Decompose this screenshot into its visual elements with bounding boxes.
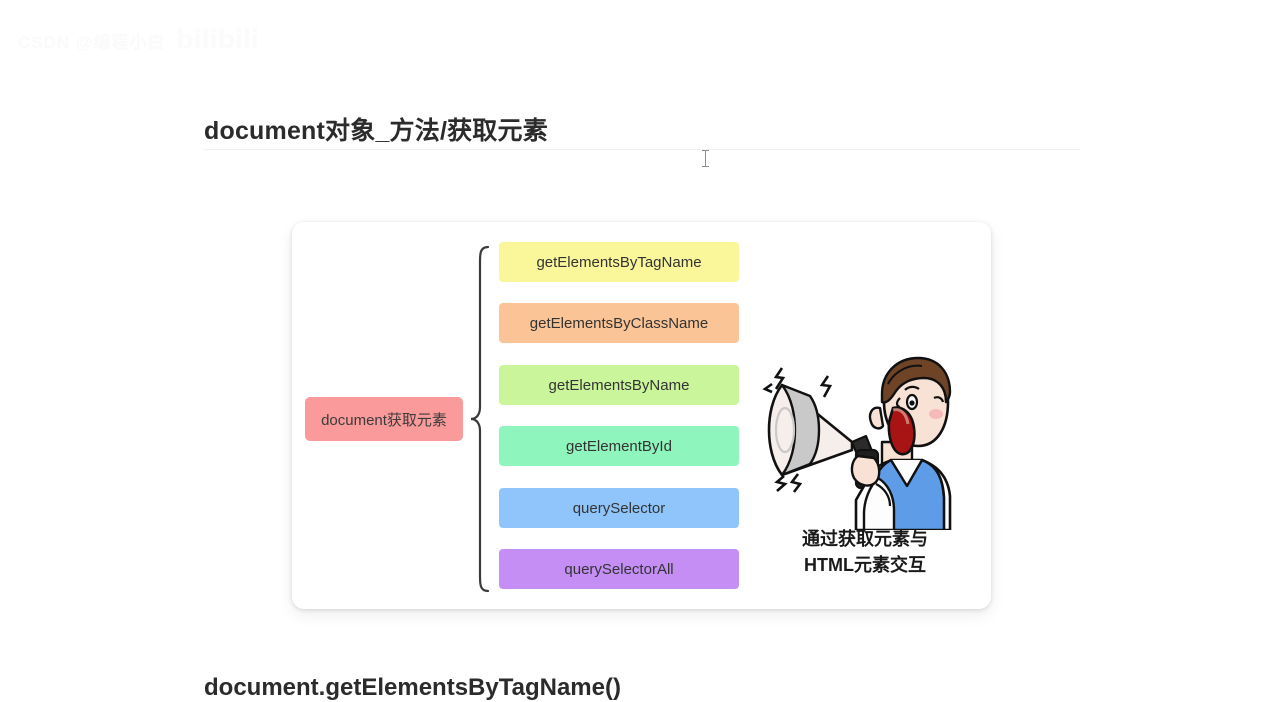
mindmap-root-node: document获取元素 — [305, 397, 463, 441]
text-ibeam-cursor — [702, 150, 709, 167]
mindmap-root-label: document获取元素 — [321, 409, 447, 430]
curly-brace-connector — [468, 244, 492, 594]
mindmap-leaf-getelementsbytagname: getElementsByTagName — [499, 242, 739, 282]
illustration-caption: 通过获取元素与 HTML元素交互 — [760, 527, 970, 578]
page-title: document对象_方法/获取元素 — [204, 111, 548, 147]
leaf-label: getElementsByClassName — [530, 315, 708, 332]
leaf-label: getElementById — [566, 438, 672, 455]
mindmap-leaf-getelementsbyclassname: getElementsByClassName — [499, 303, 739, 343]
mindmap-leaf-getelementsbyname: getElementsByName — [499, 365, 739, 405]
bilibili-logo: bilibili — [175, 25, 258, 55]
watermark-text: CSDN @编程小白 — [18, 28, 165, 53]
caption-line-2: HTML元素交互 — [760, 553, 970, 579]
mindmap-leaf-queryselectorall: querySelectorAll — [499, 549, 739, 589]
mindmap-leaf-getelementbyid: getElementById — [499, 426, 739, 466]
mindmap-leaf-queryselector: querySelector — [499, 488, 739, 528]
leaf-label: getElementsByTagName — [536, 254, 701, 271]
figure-card: document获取元素 getElementsByTagName getEle… — [292, 222, 991, 609]
leaf-label: querySelector — [573, 500, 666, 517]
megaphone-man-illustration — [760, 350, 960, 530]
watermark: CSDN @编程小白 bilibili — [18, 18, 258, 62]
title-divider — [204, 149, 1080, 150]
caption-line-1: 通过获取元素与 — [760, 527, 970, 553]
leaf-label: getElementsByName — [549, 377, 690, 394]
leaf-label: querySelectorAll — [564, 561, 673, 578]
